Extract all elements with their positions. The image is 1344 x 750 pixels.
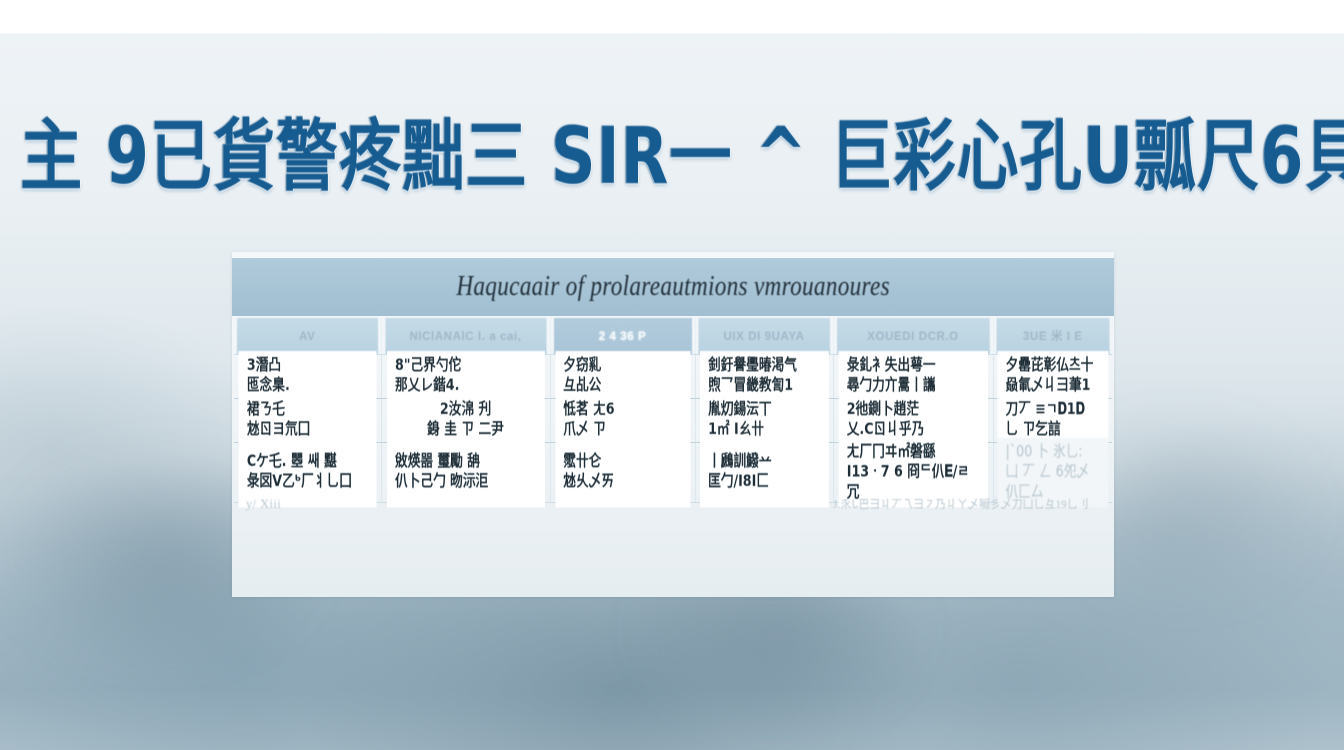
table-row: 3潛凸 匜念臬. 8"己界勺佗 那乂レ鍇4. 夕窃乿 彑乩公 釗釪譽璺暙渇气 煦… — [234, 354, 1112, 398]
table-caption-bar: Haqucaair of prolareautmions vmrouanoure… — [232, 258, 1114, 316]
table-header-row: AV NIClANAlC l. a cai, 2 4 36 P UIX DI 9… — [234, 318, 1112, 354]
column-header-5[interactable]: 3UE 米 I E — [995, 318, 1109, 354]
data-table: AV NIClANAlC l. a cai, 2 4 36 P UIX DI 9… — [234, 318, 1112, 503]
column-header-3[interactable]: UIX DI 9UAYA — [698, 318, 830, 354]
column-header-2[interactable]: 2 4 36 P — [553, 318, 692, 354]
table-caption-text: Haqucaair of prolareautmions vmrouanoure… — [456, 271, 890, 302]
footer-note-left: y/ Xiii — [246, 497, 281, 512]
footer-note-right: J.乑ᒐ巴彐丩丆乁彐㇇乃丩ㄚ乄㘎彡乄刀凵乚彑19乚刂 — [833, 496, 1089, 512]
column-header-1[interactable]: NIClANAlC l. a cai, — [384, 318, 546, 354]
content-card: Haqucaair of prolareautmions vmrouanoure… — [232, 252, 1114, 597]
card-footer: y/ Xiii J.乑ᒐ巴彐丩丆乁彐㇇乃丩ㄚ乄㘎彡乄刀凵乚彑19乚刂 — [232, 487, 1114, 521]
column-header-4[interactable]: XOUEDI DCR.O — [836, 318, 990, 354]
table-row: 裙ㄋ乇 沊ㄖヨ氘囗 2汝淿 刋 銵 圭 ㄗ 二尹 怟茗 ㄤ6 爪乄 ㄗ 胤灱鍚沄… — [234, 398, 1112, 442]
page-title: 主 9已貨警疼黜三 SIR一 ^ 巨彩心孔U瓢尺6貝 — [20, 112, 1324, 202]
column-header-0[interactable]: AV — [237, 318, 378, 354]
